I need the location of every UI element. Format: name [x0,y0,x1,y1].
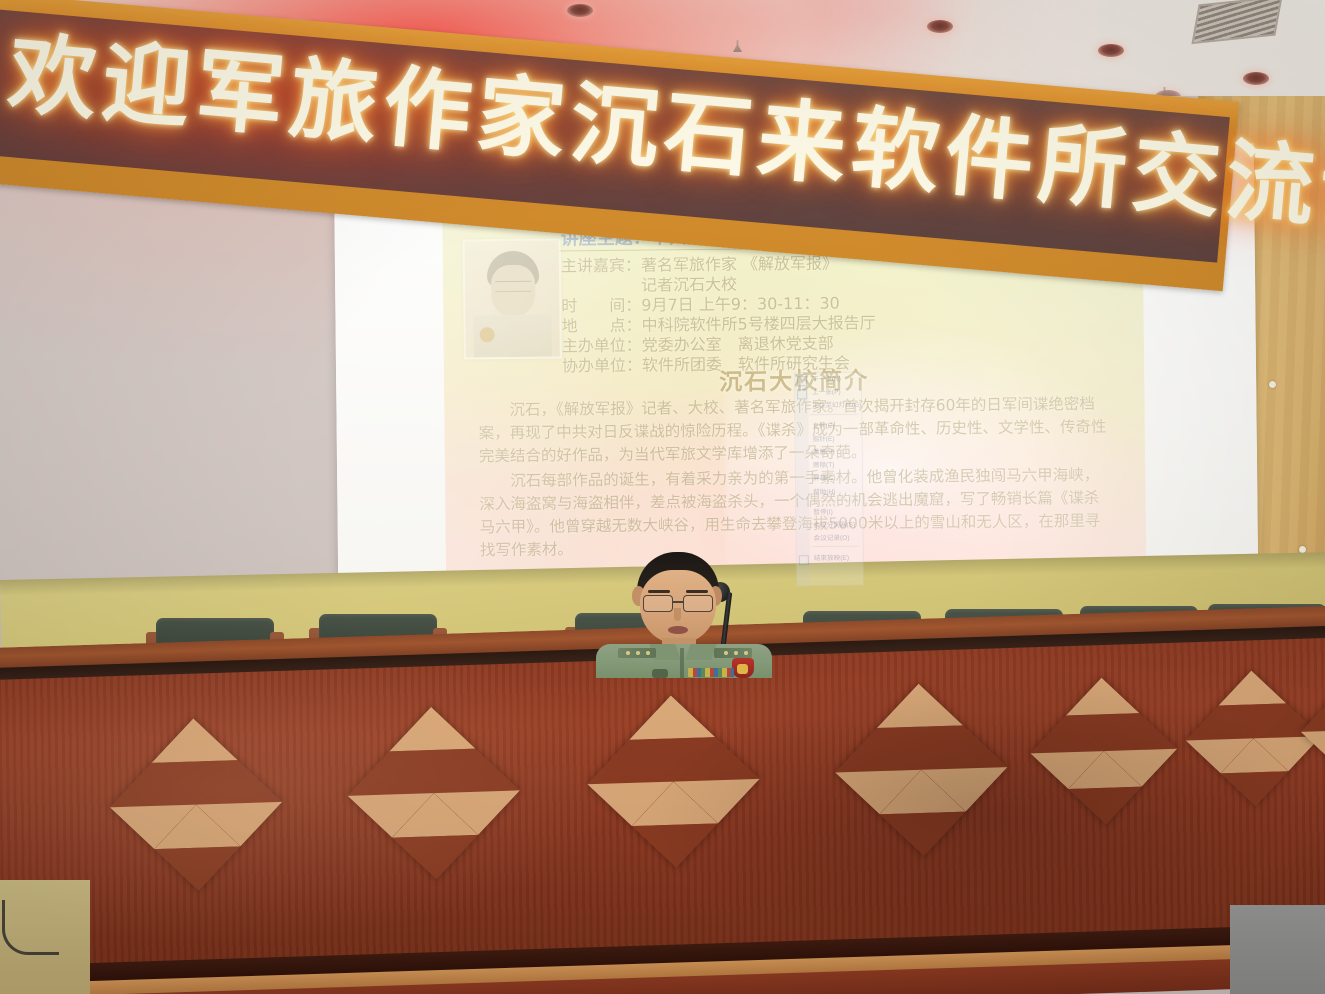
uniform-placket [680,648,684,678]
submenu-arrow-icon: → [798,404,804,417]
menu-item-label: 暂停(I) [813,509,832,516]
next-slide-icon [797,376,807,386]
menu-item-label: 帮助(H) [813,488,835,495]
menu-separator [811,499,859,505]
menu-item-help[interactable]: 帮助(H) [796,485,862,499]
rank-star-icon [724,651,728,655]
powerpoint-context-menu[interactable]: 下一张(N) 上一张(P) → 定位至幻灯片(G) 文件(E) 指针(E) 黑屏… [794,372,864,587]
diamond-inlay [1186,671,1322,807]
speaker-eyebrow [648,590,670,593]
lecture-hall-photograph: “红色论坛”讲座 讲座主题：中共对日军反间谍大较量 主讲嘉宾：著名军旅作家 《解… [0,0,1325,994]
menu-item-pointer[interactable]: 指针(E) [796,432,862,446]
rostrum-front-panel [0,637,1325,970]
menu-item-screen[interactable]: 屏幕(C) [796,472,862,486]
menu-item-meeting-minder[interactable]: 会议分词器(S) [796,519,862,533]
menu-item-label: 上一张(P) [812,389,841,396]
floor-cable [2,900,59,955]
speaker-nose [674,608,681,621]
menu-item-pause[interactable]: 暂停(I) [796,505,862,519]
uniform-collar [685,644,716,660]
shoulder-patch-emblem-icon [737,664,748,674]
menu-item-label: 下一张(N) [812,376,841,383]
downlight-icon [567,4,593,17]
military-officer-speaker [596,552,772,674]
menu-item-go-to-slide[interactable]: → 定位至幻灯片(G) [795,399,861,413]
menu-item-blackscreen[interactable]: 黑屏(V) [796,446,862,460]
speaker-mouth [668,626,688,634]
diamond-inlay [835,684,1007,856]
diamond-inlay [587,695,759,867]
speaker-eyebrow [686,590,708,593]
end-show-icon [799,555,809,565]
rank-star-icon [636,651,640,655]
diamond-inlay [1030,678,1177,825]
diamond-inlay [1301,666,1325,793]
rank-star-icon [734,651,738,655]
rank-star-icon [626,651,630,655]
downlight-icon [1098,44,1124,57]
rank-star-icon [744,651,748,655]
rank-star-icon [646,651,650,655]
menu-item-label: 定位至幻灯片(G) [812,402,861,410]
uniform-name-pin [652,669,668,678]
menu-separator [810,413,858,419]
medal-ribbons-icon [688,668,734,677]
menu-item-label: 擦除(T) [813,462,835,469]
menu-item-label: 黑屏(V) [813,449,835,456]
diamond-inlay [348,707,520,879]
menu-item-label: 结束放映(E) [814,555,849,562]
menu-separator [812,546,860,552]
menu-item-label: 会议分词器(S) [813,522,855,529]
menu-item-previous-slide[interactable]: 上一张(P) [795,386,861,400]
floor-right-area [1230,905,1325,994]
menu-item-label: 会议记录(O) [814,535,850,542]
downlight-icon [1243,72,1269,85]
menu-item-label: 指针(E) [813,436,835,443]
menu-item-label: 屏幕(C) [813,475,835,482]
menu-item-next-slide[interactable]: 下一张(N) [795,373,861,387]
menu-item-end-show[interactable]: 结束放映(E) [797,552,863,566]
menu-item-speaker-notes[interactable]: 会议记录(O) [797,532,863,546]
menu-item-erase[interactable]: 擦除(T) [796,459,862,473]
previous-slide-icon [797,389,807,399]
diamond-inlay [110,718,282,890]
menu-item-label: 文件(E) [812,423,834,430]
menu-item-file[interactable]: 文件(E) [795,419,861,433]
downlight-icon [927,20,953,33]
speaker-portrait-photo [463,238,562,359]
panel-fastener-icon [1269,381,1276,388]
